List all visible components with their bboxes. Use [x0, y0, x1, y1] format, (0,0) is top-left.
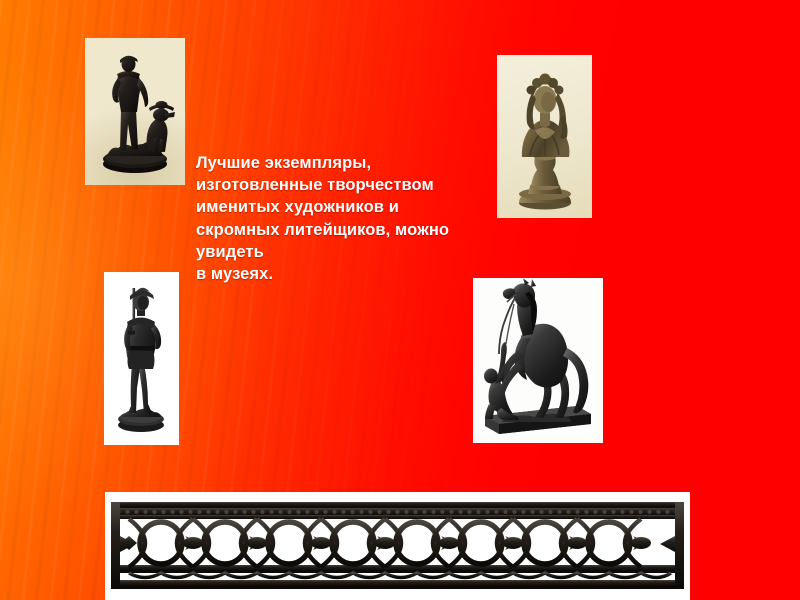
- image-bronze-bust-artwork: [497, 55, 592, 218]
- image-rearing-horse-artwork: [473, 278, 603, 443]
- slide-caption-text: Лучшие экземпляры, изготовленные творчес…: [196, 152, 464, 285]
- image-cast-iron-railing-artwork: [105, 492, 690, 600]
- image-bronze-bust: [497, 55, 592, 218]
- image-statue-with-staff-artwork: [104, 272, 179, 445]
- image-statue-with-staff: [104, 272, 179, 445]
- image-rearing-horse: [473, 278, 603, 443]
- image-statue-dog: [85, 38, 185, 185]
- image-statue-dog-artwork: [85, 38, 185, 185]
- presentation-slide: Лучшие экземпляры, изготовленные творчес…: [0, 0, 800, 600]
- image-cast-iron-railing: [105, 492, 690, 600]
